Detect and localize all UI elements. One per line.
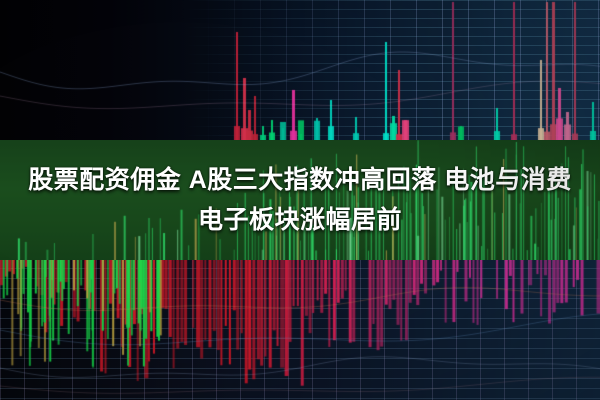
banner-canvas: 股票配资佣金 A股三大指数冲高回落 电池与消费 电子板块涨幅居前 xyxy=(0,0,600,400)
headline-line-1: 股票配资佣金 A股三大指数冲高回落 电池与消费 xyxy=(28,160,571,200)
headline-line-2: 电子板块涨幅居前 xyxy=(198,200,402,240)
headline-block: 股票配资佣金 A股三大指数冲高回落 电池与消费 电子板块涨幅居前 xyxy=(0,140,600,260)
